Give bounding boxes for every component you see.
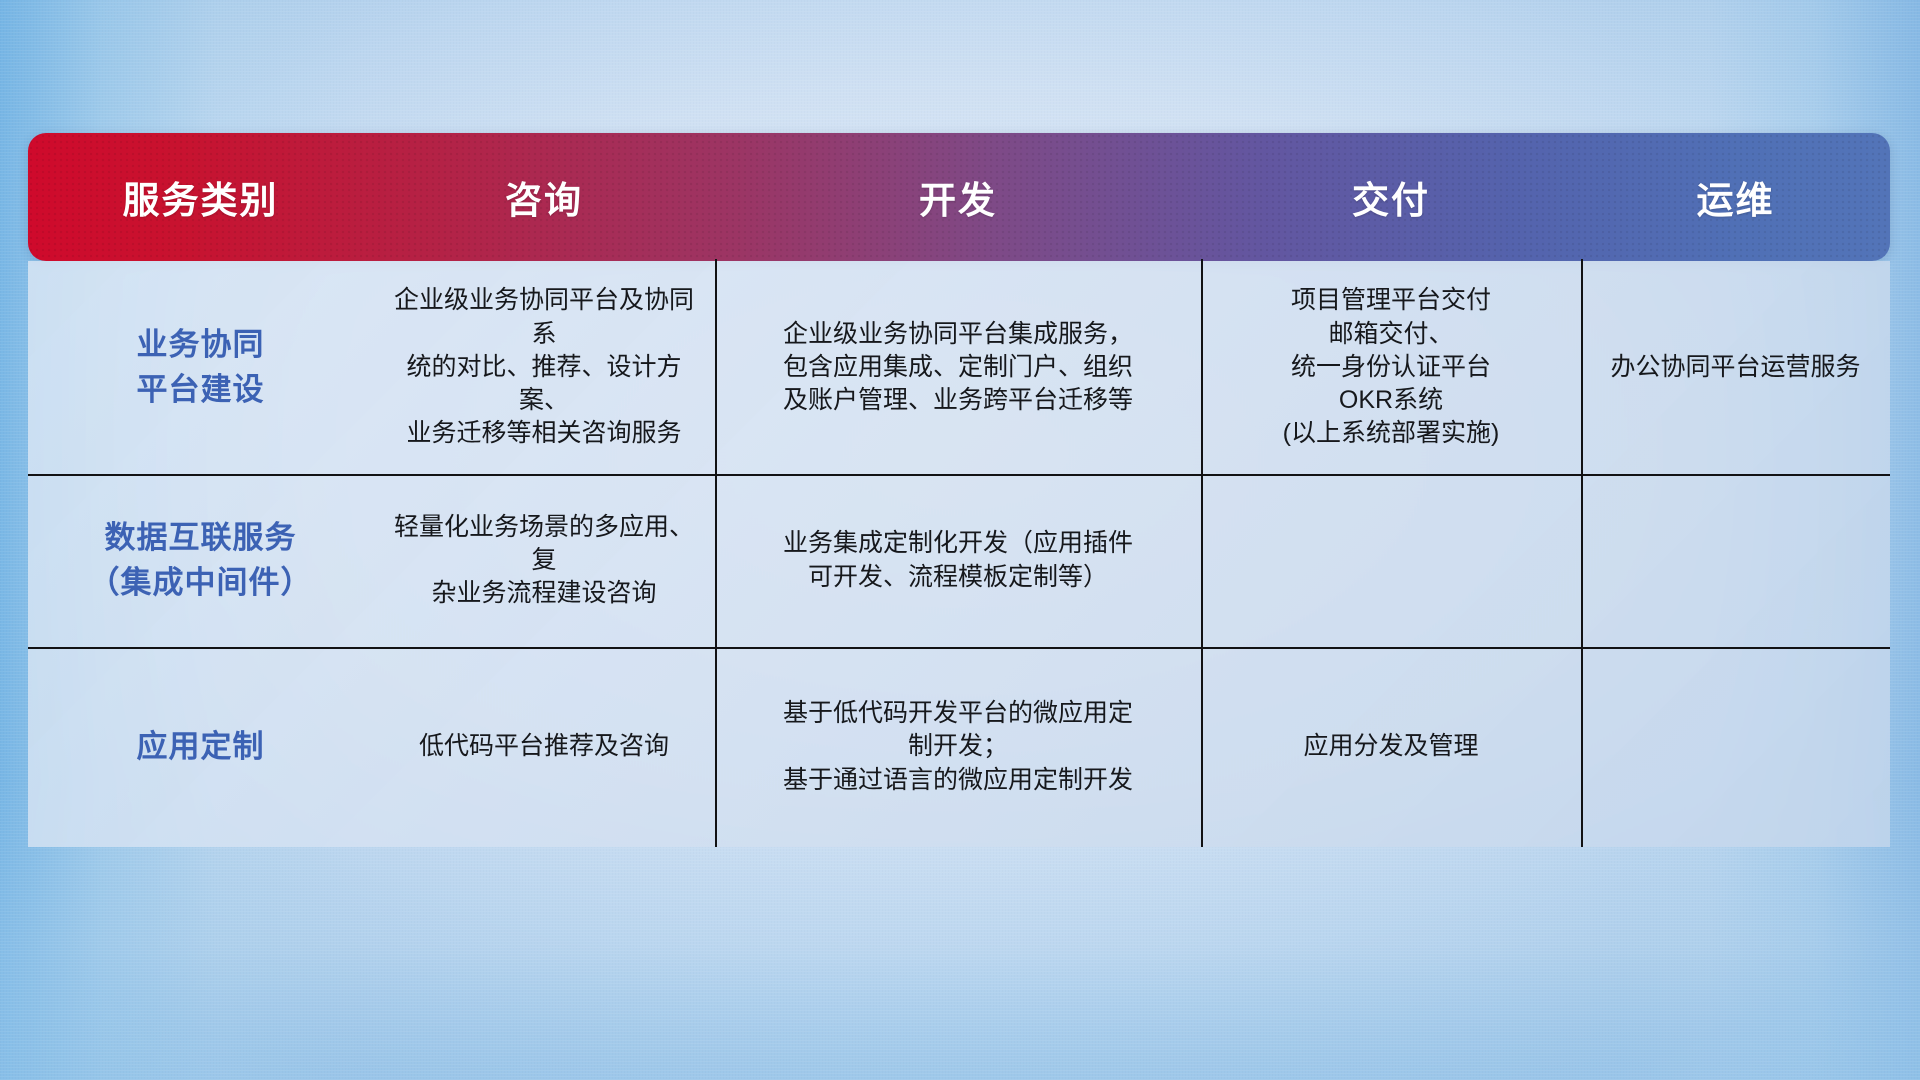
cell-delivery: 应用分发及管理 <box>1201 647 1581 847</box>
column-header-development: 开发 <box>715 133 1201 261</box>
table-row: 应用定制 低代码平台推荐及咨询 基于低代码开发平台的微应用定 制开发； 基于通过… <box>28 647 1890 847</box>
table-row: 数据互联服务 （集成中间件） 轻量化业务场景的多应用、复 杂业务流程建设咨询 业… <box>28 474 1890 647</box>
column-header-operations: 运维 <box>1581 133 1890 261</box>
row-category-label: 数据互联服务 （集成中间件） <box>28 474 373 647</box>
cell-delivery: 项目管理平台交付 邮箱交付、 统一身份认证平台 OKR系统 (以上系统部署实施) <box>1201 261 1581 474</box>
row-category-label: 业务协同 平台建设 <box>28 261 373 474</box>
cell-operations <box>1581 474 1890 647</box>
cell-development: 企业级业务协同平台集成服务， 包含应用集成、定制门户、组织 及账户管理、业务跨平… <box>715 261 1201 474</box>
table-header-row: 服务类别 咨询 开发 交付 运维 <box>28 133 1890 261</box>
cell-consulting: 轻量化业务场景的多应用、复 杂业务流程建设咨询 <box>373 474 715 647</box>
cell-development: 业务集成定制化开发（应用插件 可开发、流程模板定制等） <box>715 474 1201 647</box>
cell-development: 基于低代码开发平台的微应用定 制开发； 基于通过语言的微应用定制开发 <box>715 647 1201 847</box>
cell-consulting: 低代码平台推荐及咨询 <box>373 647 715 847</box>
service-matrix-table: 服务类别 咨询 开发 交付 运维 业务协同 平台建设 企业级业务协同平台及协同系… <box>28 133 1890 847</box>
table-body: 业务协同 平台建设 企业级业务协同平台及协同系 统的对比、推荐、设计方案、 业务… <box>28 261 1890 847</box>
column-header-consulting: 咨询 <box>373 133 715 261</box>
cell-consulting: 企业级业务协同平台及协同系 统的对比、推荐、设计方案、 业务迁移等相关咨询服务 <box>373 261 715 474</box>
column-header-category: 服务类别 <box>28 133 373 261</box>
cell-delivery <box>1201 474 1581 647</box>
column-header-delivery: 交付 <box>1201 133 1581 261</box>
cell-operations: 办公协同平台运营服务 <box>1581 261 1890 474</box>
row-category-label: 应用定制 <box>28 647 373 847</box>
table-row: 业务协同 平台建设 企业级业务协同平台及协同系 统的对比、推荐、设计方案、 业务… <box>28 261 1890 474</box>
cell-operations <box>1581 647 1890 847</box>
